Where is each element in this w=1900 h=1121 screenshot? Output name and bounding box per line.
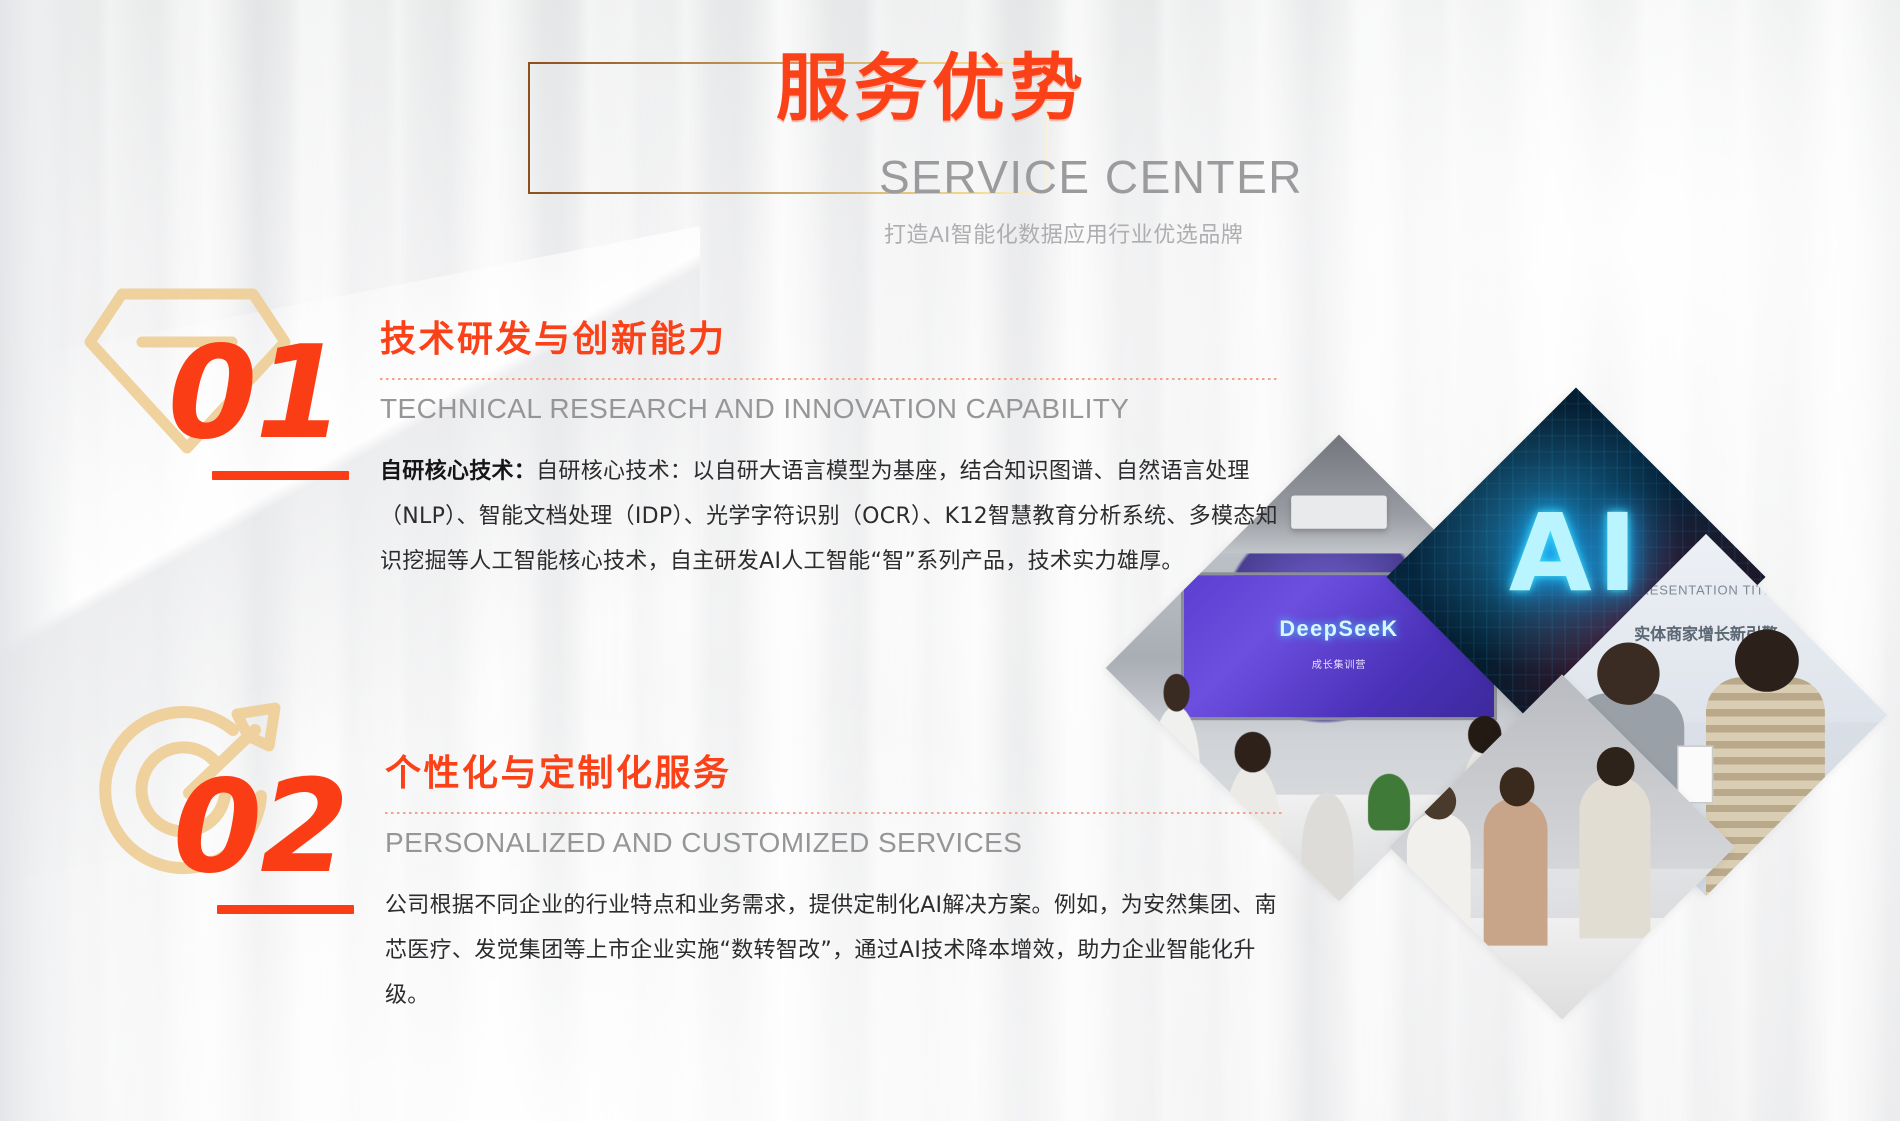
page-header: 服务优势 SERVICE CENTER 打造AI智能化数据应用行业优选品牌	[0, 0, 1900, 290]
section-02-heading-en: PERSONALIZED AND CUSTOMIZED SERVICES	[385, 828, 1335, 859]
page-tagline: 打造AI智能化数据应用行业优选品牌	[884, 224, 1243, 246]
section-01-badge: 01	[40, 258, 340, 558]
section-02-number-underline	[217, 905, 354, 914]
section-02-divider	[385, 812, 1285, 814]
section-01-number: 01	[168, 330, 342, 458]
section-02-paragraph: 公司根据不同企业的行业特点和业务需求，提供定制化AI解决方案。例如，为安然集团、…	[385, 884, 1295, 1019]
meeting-table	[1389, 918, 1734, 1020]
section-02-badge: 02	[45, 692, 345, 992]
section-01-content: 技术研发与创新能力 TECHNICAL RESEARCH AND INNOVAT…	[380, 320, 1330, 585]
screen-logo-text: DeepSeeK	[1209, 618, 1469, 643]
section-02-heading-cn: 个性化与定制化服务	[385, 754, 1335, 794]
award-presenter	[1706, 678, 1825, 896]
section-02-number: 02	[173, 764, 347, 892]
page-title-english: SERVICE CENTER	[879, 154, 1303, 200]
clapping-attendee	[1580, 776, 1651, 939]
clapping-attendee	[1484, 797, 1548, 946]
potted-plant	[1368, 773, 1411, 830]
clapping-attendee	[1406, 812, 1470, 954]
screen-subtitle-text: 成长集训营	[1209, 658, 1469, 673]
section-02-content: 个性化与定制化服务 PERSONALIZED AND CUSTOMIZED SE…	[385, 754, 1335, 1019]
section-01-heading-cn: 技术研发与创新能力	[380, 320, 1330, 360]
page-title: 服务优势	[776, 52, 1088, 125]
section-01-lead: 自研核心技术：	[380, 459, 536, 484]
potted-plant	[1661, 911, 1718, 982]
section-01-paragraph: 自研核心技术：自研核心技术：以自研大语言模型为基座，结合知识图谱、自然语言处理（…	[380, 450, 1290, 585]
section-01-divider	[380, 378, 1280, 380]
section-01-heading-en: TECHNICAL RESEARCH AND INNOVATION CAPABI…	[380, 394, 1330, 425]
section-01-number-underline	[212, 471, 349, 480]
